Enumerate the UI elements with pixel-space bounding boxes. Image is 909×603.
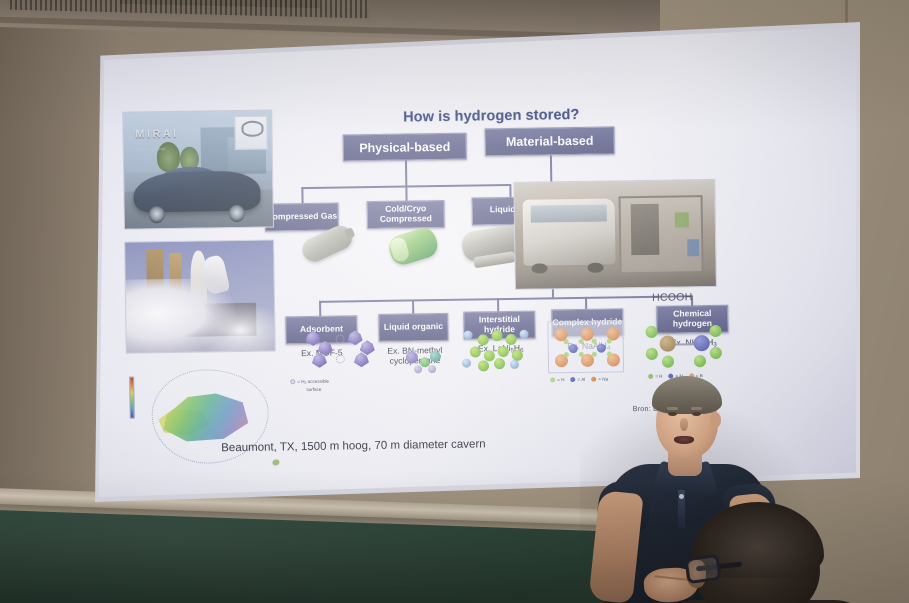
connector-compressed-gas [301,187,303,204]
bn-methyl-cyclopentane-icon [396,337,451,378]
lecture-hall-photo: How is hydrogen stored? Physical-based M… [0,0,909,603]
slide-title: How is hydrogen stored? [366,106,616,126]
connector-adsorbent [319,301,321,317]
toyota-logo-icon [234,115,267,150]
hydrogen-bus-facility-image [513,179,717,290]
connector-physical-stem [405,161,407,187]
hcooh-label: HCOOH [652,291,693,304]
mof5-structure-icon [303,326,378,375]
mof5-legend-line2: surface [306,387,321,392]
mof5-legend-text2: surface [306,387,321,392]
mirai-tagline: going beyond [137,147,166,151]
mirai-wordmark: MIRAI [135,128,178,141]
audience-member [680,508,870,603]
connector-material-bus [319,295,691,302]
lani5h6-lattice-icon [459,324,536,375]
box-cold-cryo-compressed: Cold/Cryo Compressed [367,200,445,229]
box-material-based: Material-based [485,126,615,156]
mof5-legend: = H2 accessible [290,379,329,385]
nh3bh3-structure-icon [645,321,724,372]
space-shuttle-launch-image [124,239,276,353]
box-compressed-gas: Compressed Gas [265,203,339,232]
cryo-compressed-tank-icon [386,225,441,268]
salt-cavern-3d-plot [126,361,286,475]
slide-caption: Beaumont, TX, 1500 m hoog, 70 m diameter… [221,438,486,454]
toyota-mirai-advert-image: MIRAI going beyond [122,109,274,229]
naalh4-structure-icon [547,320,624,373]
box-physical-based: Physical-based [343,133,467,162]
mof5-legend-text: = H2 accessible [297,379,329,385]
colorbar [129,377,135,419]
